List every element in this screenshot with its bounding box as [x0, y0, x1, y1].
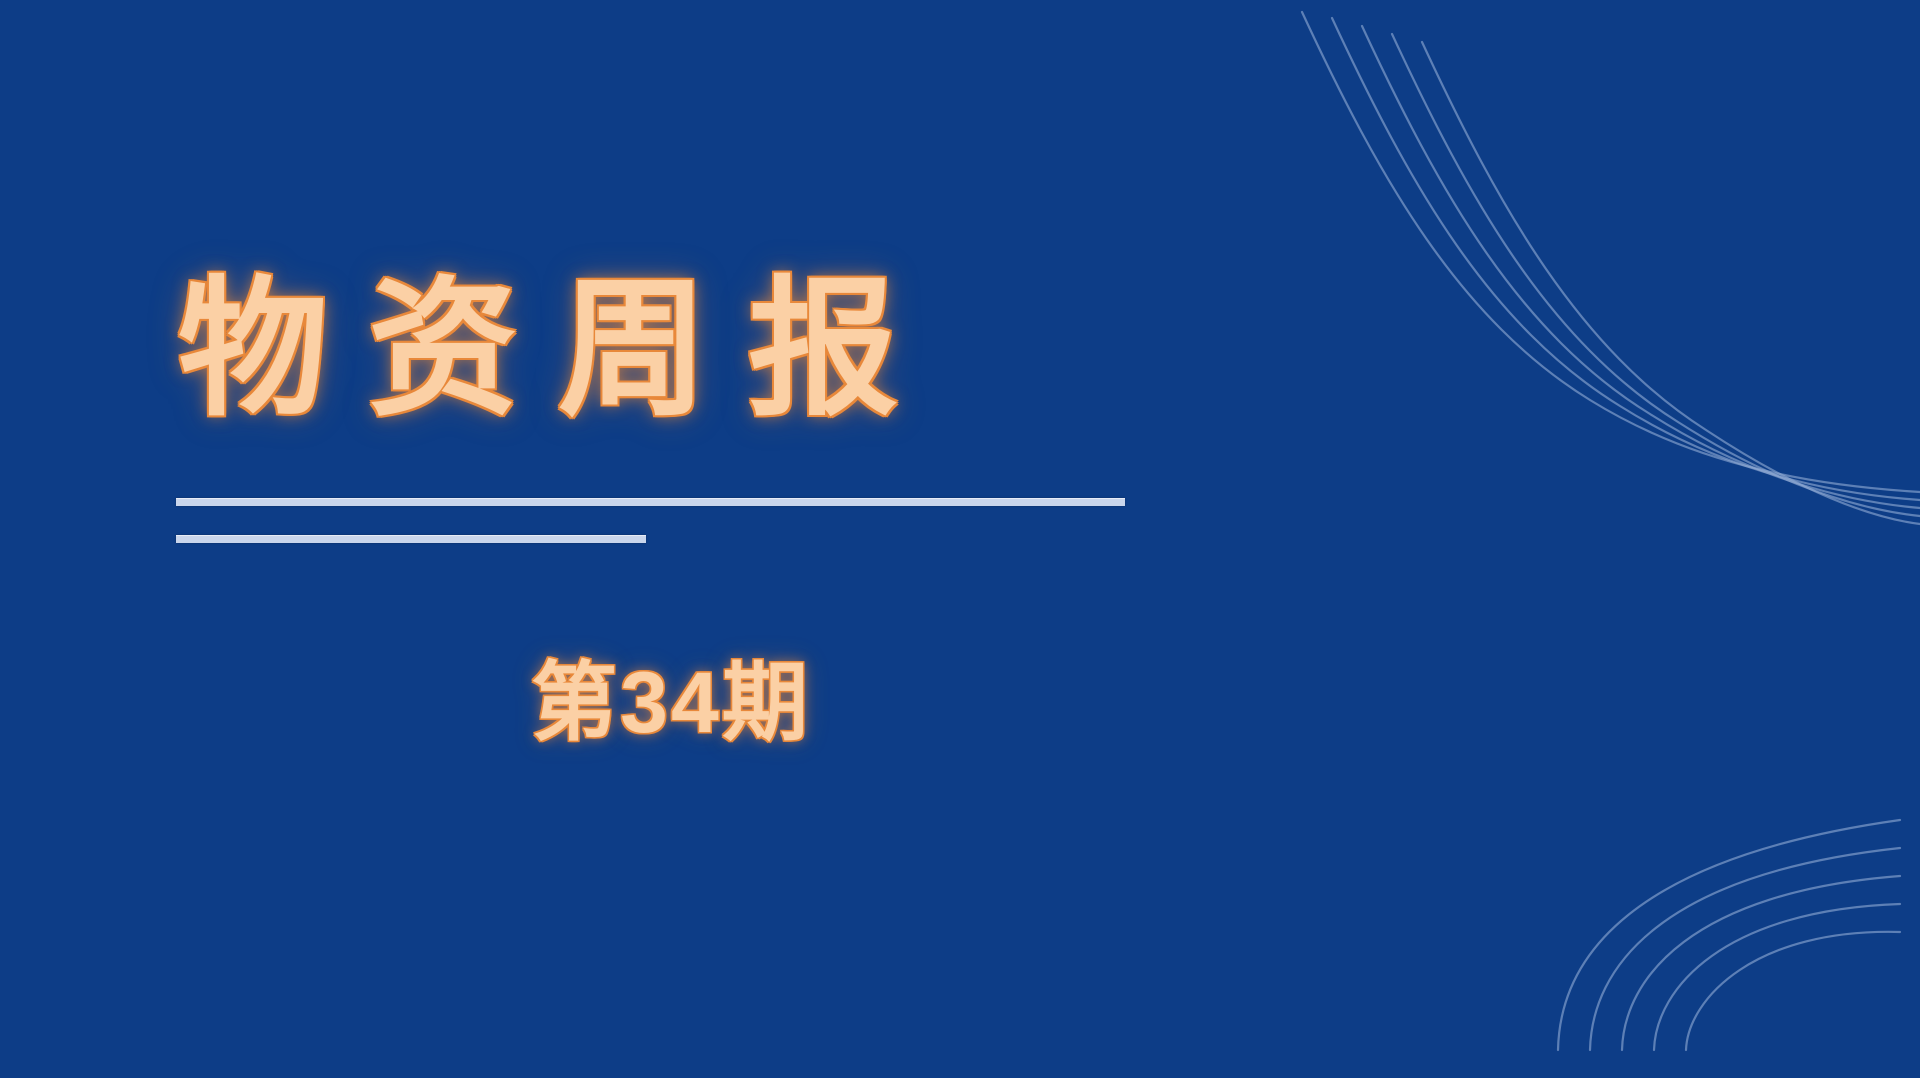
deco-arc-4: [1654, 904, 1900, 1050]
title-slide: 物资周报 第34期: [0, 0, 1920, 1078]
deco-arc-2: [1590, 848, 1900, 1050]
swoosh-curves-top-right-icon: [1260, 0, 1920, 570]
deco-curve-1: [1302, 12, 1920, 492]
deco-curve-2: [1332, 18, 1920, 500]
deco-arc-3: [1622, 876, 1900, 1050]
deco-arc-5: [1686, 932, 1900, 1050]
arc-curves-bottom-right-icon: [1500, 728, 1920, 1078]
deco-arc-1: [1558, 820, 1900, 1050]
title-block: 物资周报: [178, 268, 1178, 430]
divider-long: [176, 498, 1125, 506]
slide-subtitle: 第34期: [176, 654, 1166, 753]
divider-short: [176, 535, 646, 543]
page-title: 物资周报: [178, 268, 1178, 430]
deco-curve-5: [1422, 42, 1920, 524]
deco-curve-3: [1362, 26, 1920, 508]
divider-group: [176, 498, 1156, 543]
deco-curve-4: [1392, 34, 1920, 516]
